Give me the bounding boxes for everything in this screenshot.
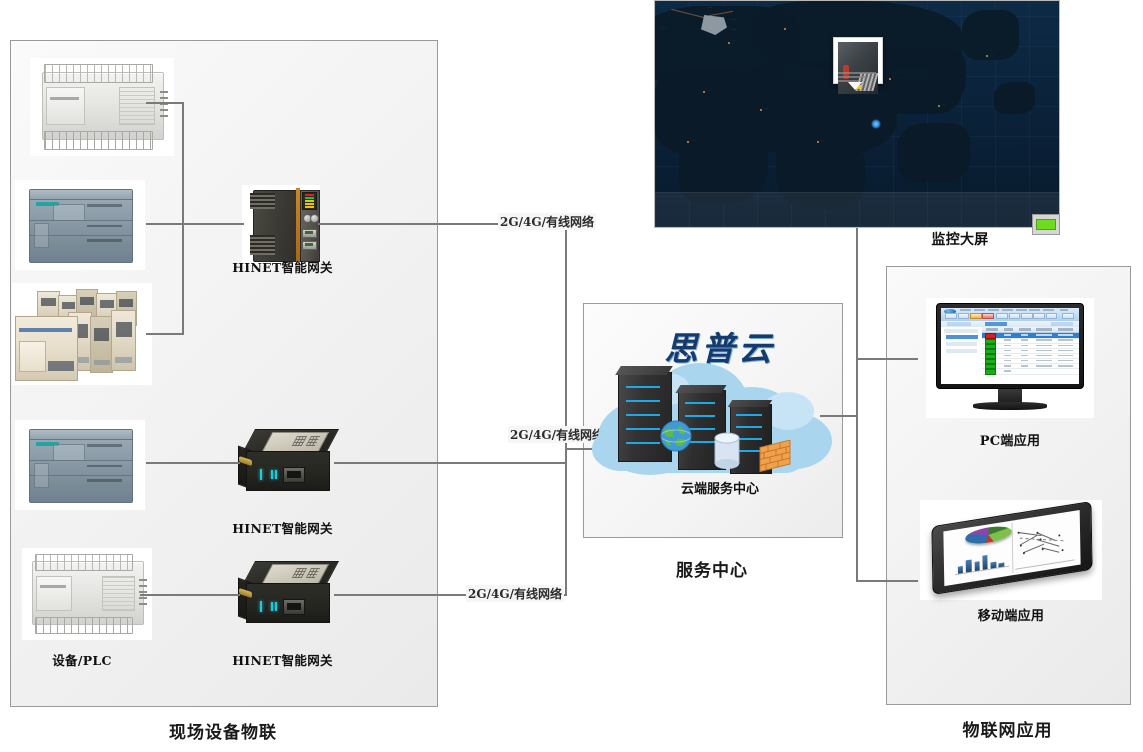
app-ribbon <box>941 308 1079 322</box>
pc-application-label: PC端应用 <box>926 430 1094 449</box>
link-bus-to-gateway <box>182 223 244 225</box>
link-bus-mobile <box>856 580 918 582</box>
link-plc1 <box>146 102 184 104</box>
link-bus-top <box>182 102 184 334</box>
device-modular-plc-rack <box>12 283 152 385</box>
database-icon <box>712 432 742 470</box>
server-rack-medium-top <box>676 385 727 393</box>
monitor-wall-label: 监控大屏 <box>860 229 1060 249</box>
link-gateway2-trunk <box>334 462 566 464</box>
pc-application-device <box>926 298 1094 418</box>
hinet-gateway-box-2 <box>238 560 336 628</box>
app-data-table <box>982 327 1078 384</box>
hinet-gateway-din-label: HINET智能网关 <box>200 257 365 276</box>
device-siemens-plc <box>15 180 145 270</box>
monitor-wall-screen: ····· ····· ····· ····· ····· ····· ····… <box>654 0 1060 228</box>
application-panel-caption: 物联网应用 <box>886 716 1129 741</box>
hinet-gateway-din <box>242 185 320 265</box>
link-bus-pc <box>856 358 918 360</box>
application-bus <box>856 262 858 582</box>
mobile-application-label: 移动端应用 <box>920 605 1102 624</box>
device-siemens-plc-2 <box>15 420 145 510</box>
server-led-stripe <box>626 386 660 444</box>
link-plc3 <box>146 333 184 335</box>
cloud-uplink-bus <box>565 223 567 596</box>
mobile-application-device <box>920 500 1102 600</box>
hinet-gateway-box-2-label: HINET智能网关 <box>200 650 365 669</box>
hinet-gateway-box-1-label: HINET智能网关 <box>200 518 365 537</box>
device-mitsubishi-plc <box>30 58 174 156</box>
link-plc4-gateway <box>146 462 240 464</box>
service-center-caption: 服务中心 <box>583 556 841 581</box>
network-link-label-3: 2G/4G/有线网络 <box>466 585 564 602</box>
tablet-pie-chart <box>965 523 1012 546</box>
hinet-gateway-box-1 <box>238 428 336 496</box>
cloud-brand-logo: 思普云 <box>640 322 800 370</box>
app-device-tree <box>941 327 983 384</box>
server-rack-small-top <box>728 400 772 407</box>
link-cloud-out <box>820 415 857 417</box>
map-marker[interactable] <box>871 119 881 129</box>
globe-icon <box>660 420 692 452</box>
field-panel-caption: 现场设备物联 <box>10 718 436 743</box>
map-legend: ····· ····· ····· ····· ····· <box>661 5 781 41</box>
cloud-service-center-label: 云端服务中心 <box>620 478 820 497</box>
firewall-icon <box>758 440 792 472</box>
network-link-label-1: 2G/4G/有线网络 <box>498 213 596 230</box>
map-popup-card <box>833 37 883 84</box>
link-plc5-gateway <box>140 594 240 596</box>
device-mitsubishi-plc-2 <box>22 548 152 640</box>
link-bus-monitor-wall <box>856 228 858 264</box>
device-plc-label: 设备/PLC <box>12 650 152 669</box>
